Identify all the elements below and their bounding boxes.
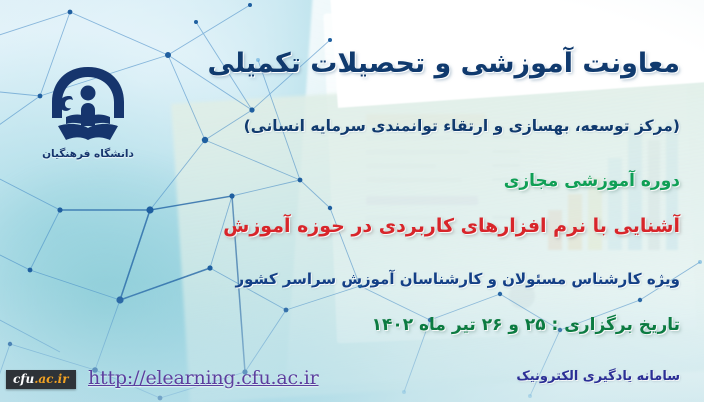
event-date-label: تاریخ برگزاری : ۲۵ و ۲۶ تیر ماه ۱۴۰۲ — [372, 315, 680, 335]
elearning-url-link[interactable]: http://elearning.cfu.ac.ir — [88, 367, 319, 389]
audience-label: ویژه کارشناس مسئولان و کارشناسان آموزش س… — [236, 270, 680, 288]
badge-name: cfu — [13, 372, 34, 386]
elearning-system-label: سامانه یادگیری الکترونیک — [516, 369, 680, 384]
badge-domain: .ac.ir — [34, 372, 68, 386]
event-poster: دانشگاه فرهنگیان معاونت آموزشی و تحصیلات… — [0, 0, 704, 402]
poster-text-block: معاونت آموزشی و تحصیلات تکمیلی (مرکز توس… — [0, 0, 704, 402]
poster-subtitle: (مرکز توسعه، بهسازی و ارتقاء توانمندی سر… — [244, 117, 680, 135]
cfu-domain-badge[interactable]: cfu.ac.ir — [6, 370, 76, 389]
course-type-label: دوره آموزشی مجازی — [504, 171, 680, 191]
course-topic-label: آشنایی با نرم افزارهای کاربردی در حوزه آ… — [223, 215, 680, 237]
poster-title: معاونت آموزشی و تحصیلات تکمیلی — [208, 48, 680, 79]
